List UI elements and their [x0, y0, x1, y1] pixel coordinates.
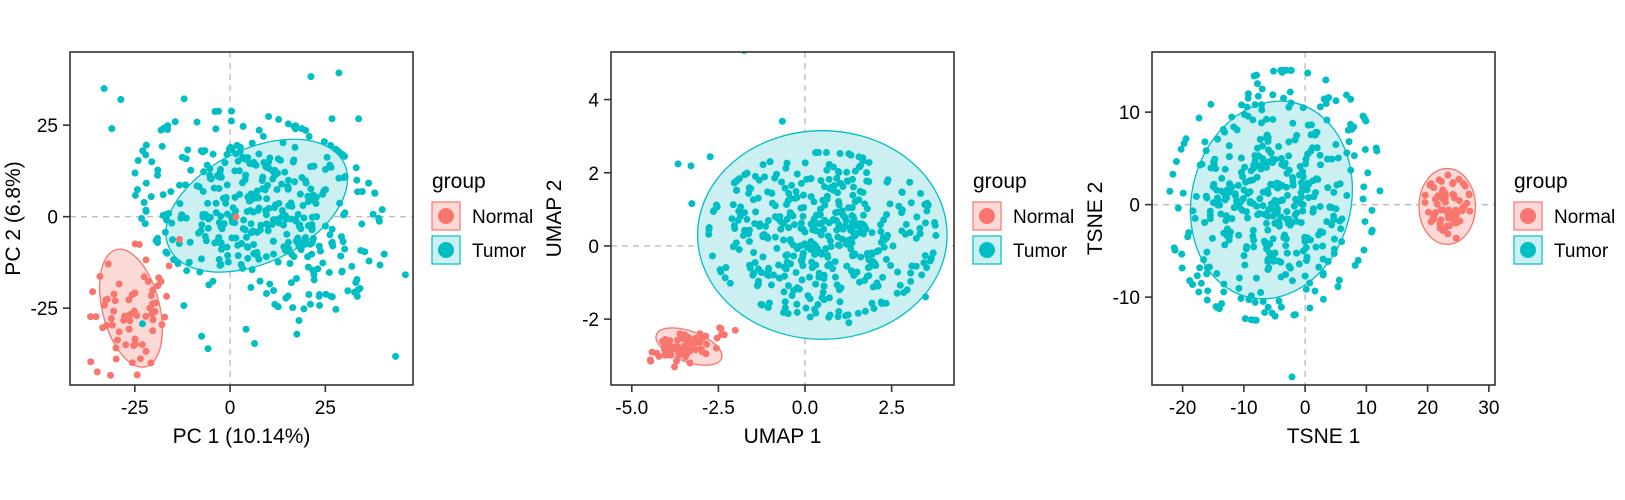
x-tick-label: -2.5	[702, 398, 735, 419]
x-axis-tsne: -20-100102030	[1169, 385, 1500, 419]
y-tick-label: 0	[47, 208, 58, 229]
legend-item-label: Tumor	[1554, 241, 1609, 262]
y-tick-label: -25	[31, 299, 58, 320]
multi-panel-dimensionality-reduction-figure: -25025250-25PC 1 (10.14%)PC 2 (6.8%)grou…	[0, 0, 1625, 500]
legend-group: groupNormalTumor	[1514, 170, 1615, 264]
x-axis-umap: -5.0-2.50.02.5	[615, 385, 904, 419]
legend-group: groupNormalTumor	[973, 170, 1074, 264]
legend-title: group	[432, 170, 486, 193]
x-tick-label: -5.0	[615, 398, 648, 419]
y-tick-label: 25	[37, 116, 58, 137]
legend-item-normal[interactable]: Normal	[973, 202, 1074, 230]
legend-item-label: Normal	[1013, 207, 1074, 228]
plot-tsne: -20-100102030100-10TSNE 1TSNE 2groupNorm…	[1082, 0, 1623, 500]
y-tick-label: 4	[588, 91, 599, 112]
x-tick-label: 0.0	[792, 398, 818, 419]
plot-pca: -25025250-25PC 1 (10.14%)PC 2 (6.8%)grou…	[0, 0, 541, 500]
x-tick-label: -10	[1230, 398, 1257, 419]
plot-area-umap	[611, 47, 954, 385]
x-tick-label: 30	[1478, 398, 1499, 419]
legend-key-dot	[438, 208, 454, 224]
legend-item-tumor[interactable]: Tumor	[973, 236, 1068, 264]
y-tick-label: -2	[582, 310, 599, 331]
plot-area-pca	[70, 52, 413, 394]
confidence-ellipse-normal	[89, 243, 174, 374]
y-axis-title: TSNE 2	[1084, 182, 1107, 256]
legend-item-normal[interactable]: Normal	[432, 202, 533, 230]
x-tick-label: 10	[1356, 398, 1377, 419]
y-axis-title: UMAP 2	[543, 180, 566, 258]
y-axis-umap: 420-2	[582, 91, 611, 332]
x-tick-label: 20	[1417, 398, 1438, 419]
legend-key-dot	[979, 242, 995, 258]
legend-item-tumor[interactable]: Tumor	[432, 236, 527, 264]
legend-title: group	[973, 170, 1027, 193]
legend-key-dot	[438, 242, 454, 258]
legend-group: groupNormalTumor	[432, 170, 533, 264]
x-tick-label: 25	[315, 398, 336, 419]
legend-item-label: Normal	[1554, 207, 1615, 228]
plot-umap: -5.0-2.50.02.5420-2UMAP 1UMAP 2groupNorm…	[541, 0, 1082, 500]
y-axis-title: PC 2 (6.8%)	[2, 161, 25, 275]
legend-item-tumor[interactable]: Tumor	[1514, 236, 1609, 264]
y-tick-label: 0	[1129, 196, 1140, 217]
y-axis-tsne: 100-10	[1113, 103, 1152, 309]
x-tick-label: -20	[1169, 398, 1196, 419]
y-tick-label: 0	[588, 237, 599, 258]
x-tick-label: -25	[121, 398, 148, 419]
legend-title: group	[1514, 170, 1568, 193]
y-axis-pca: 250-25	[31, 116, 70, 320]
panel-pca: -25025250-25PC 1 (10.14%)PC 2 (6.8%)grou…	[0, 0, 541, 500]
x-axis-title: TSNE 1	[1287, 425, 1361, 448]
x-axis-title: PC 1 (10.14%)	[173, 425, 311, 448]
panel-umap: -5.0-2.50.02.5420-2UMAP 1UMAP 2groupNorm…	[541, 0, 1082, 500]
legend-item-normal[interactable]: Normal	[1514, 202, 1615, 230]
legend-key-dot	[1520, 242, 1536, 258]
panel-tsne: -20-100102030100-10TSNE 1TSNE 2groupNorm…	[1082, 0, 1623, 500]
legend-key-dot	[979, 208, 995, 224]
scatter-points-pca	[87, 69, 409, 393]
y-tick-label: 2	[588, 164, 599, 185]
x-axis-pca: -25025	[121, 385, 336, 419]
legend-item-label: Tumor	[472, 241, 527, 262]
x-tick-label: 0	[1300, 398, 1311, 419]
y-tick-label: 10	[1119, 103, 1140, 124]
x-axis-title: UMAP 1	[744, 425, 822, 448]
legend-item-label: Normal	[472, 207, 533, 228]
plot-area-tsne	[1152, 52, 1495, 385]
legend-key-dot	[1520, 208, 1536, 224]
legend-item-label: Tumor	[1013, 241, 1068, 262]
x-tick-label: 0	[225, 398, 236, 419]
x-tick-label: 2.5	[878, 398, 904, 419]
y-tick-label: -10	[1113, 288, 1140, 309]
